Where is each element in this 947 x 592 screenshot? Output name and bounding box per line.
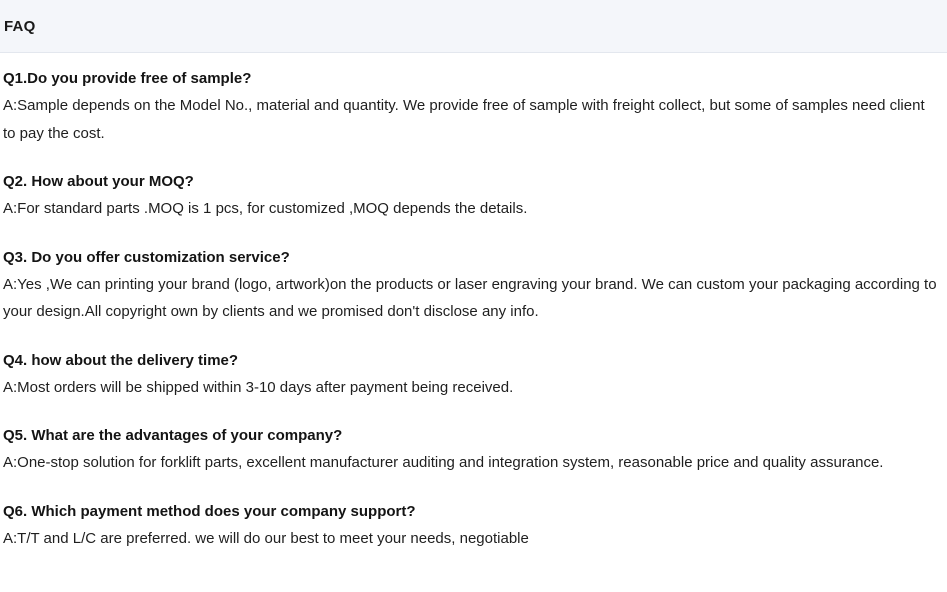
faq-question: Q1.Do you provide free of sample?: [3, 65, 943, 92]
faq-question: Q2. How about your MOQ?: [3, 168, 943, 195]
faq-answer: A:T/T and L/C are preferred. we will do …: [3, 525, 938, 553]
faq-answer: A:For standard parts .MOQ is 1 pcs, for …: [3, 195, 938, 223]
faq-question: Q6. Which payment method does your compa…: [3, 498, 943, 525]
faq-question: Q5. What are the advantages of your comp…: [3, 422, 943, 449]
faq-item: Q3. Do you offer customization service? …: [3, 244, 943, 326]
faq-header-bar: FAQ: [0, 0, 947, 53]
faq-item: Q6. Which payment method does your compa…: [3, 498, 943, 553]
page-title: FAQ: [4, 19, 35, 34]
faq-answer: A:Yes ,We can printing your brand (logo,…: [3, 271, 938, 326]
faq-item: Q2. How about your MOQ? A:For standard p…: [3, 168, 943, 223]
faq-item: Q5. What are the advantages of your comp…: [3, 422, 943, 477]
faq-answer: A:One-stop solution for forklift parts, …: [3, 449, 938, 477]
faq-question: Q3. Do you offer customization service?: [3, 244, 943, 271]
faq-list: Q1.Do you provide free of sample? A:Samp…: [0, 65, 947, 552]
faq-answer: A:Sample depends on the Model No., mater…: [3, 92, 938, 147]
faq-item: Q1.Do you provide free of sample? A:Samp…: [3, 65, 943, 147]
faq-question: Q4. how about the delivery time?: [3, 347, 943, 374]
faq-answer: A:Most orders will be shipped within 3-1…: [3, 374, 938, 402]
faq-item: Q4. how about the delivery time? A:Most …: [3, 347, 943, 402]
faq-page: FAQ Q1.Do you provide free of sample? A:…: [0, 0, 947, 592]
